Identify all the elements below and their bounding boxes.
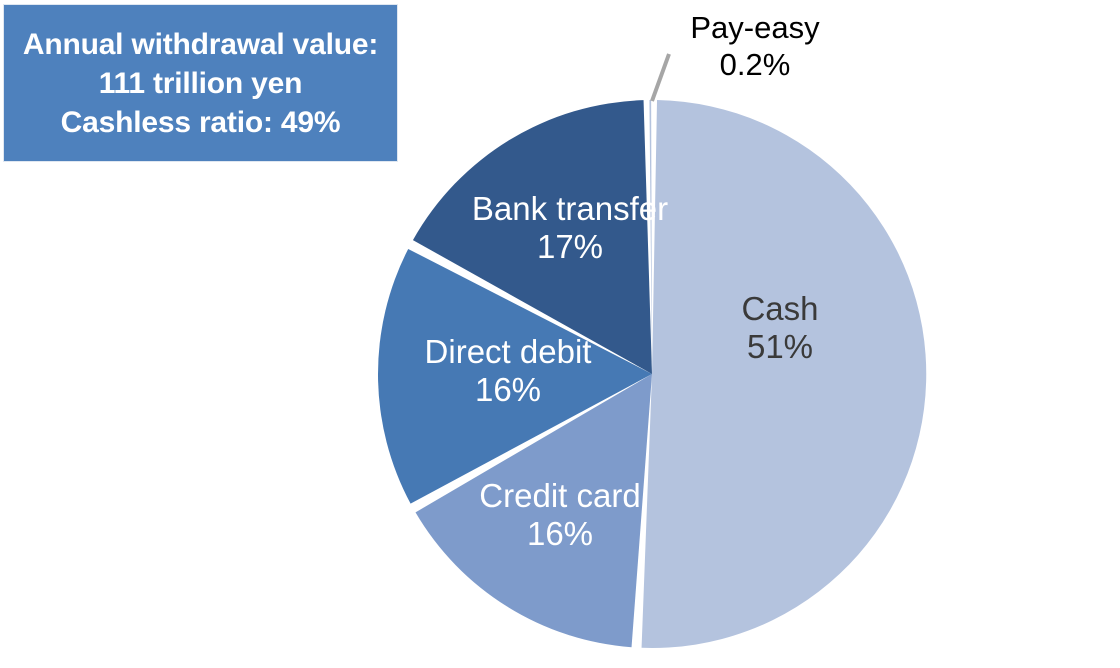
pay-easy-leader-line [652, 54, 669, 101]
pie-slice-group [378, 100, 926, 648]
pie-slice-cash[interactable] [642, 100, 927, 648]
pie-chart-svg [0, 0, 1120, 668]
chart-canvas: Annual withdrawal value: 111 trillion ye… [0, 0, 1120, 668]
pie-chart [0, 0, 1120, 668]
